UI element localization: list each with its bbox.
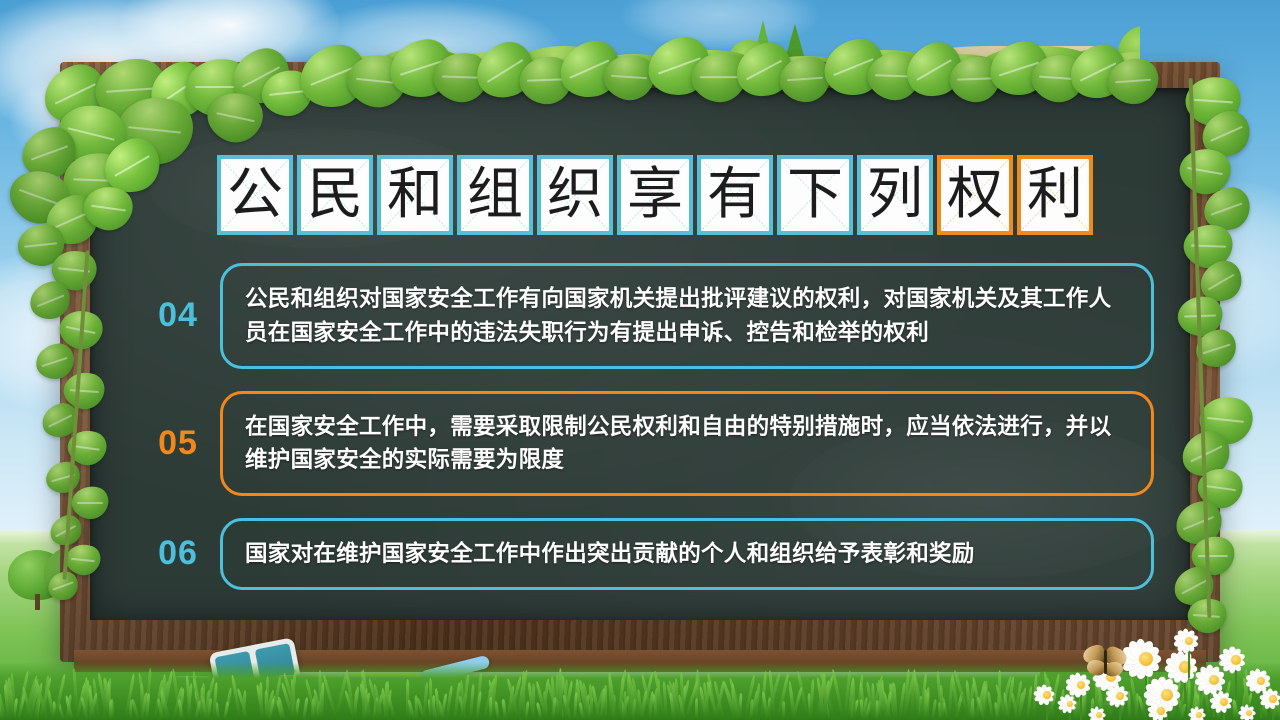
grass-blade	[223, 701, 229, 720]
flower-core	[1043, 691, 1050, 698]
provision-number: 05	[136, 424, 220, 463]
grass-blade	[469, 684, 475, 720]
blackboard: 公民和组织享有下列权利 04公民和组织对国家安全工作有向国家机关提出批评建议的权…	[60, 62, 1220, 662]
grass-blade	[522, 671, 525, 720]
title-glyph: 民	[307, 167, 363, 223]
grass-blade	[429, 678, 433, 720]
daisy-flower	[1190, 706, 1208, 720]
provision-item: 04公民和组织对国家安全工作有向国家机关提出批评建议的权利，对国家机关及其工作人…	[136, 263, 1154, 369]
grass-blade	[302, 697, 308, 720]
grass-blade	[445, 685, 453, 720]
daisy-flower	[1262, 688, 1280, 710]
title-glyph: 和	[387, 167, 443, 223]
title-glyph: 列	[867, 167, 923, 223]
grass-blade	[502, 699, 508, 720]
provision-item: 06国家对在维护国家安全工作中作出突出贡献的个人和组织给予表彰和奖励	[136, 518, 1154, 590]
butterfly-body	[1104, 650, 1107, 674]
title-glyph-cell: 利	[1017, 155, 1093, 235]
daisy-flower	[1036, 684, 1058, 706]
title-glyph-cell: 下	[777, 155, 853, 235]
grass-blade	[109, 700, 112, 720]
provision-text: 公民和组织对国家安全工作有向国家机关提出批评建议的权利，对国家机关及其工作人员在…	[245, 282, 1129, 350]
grass-blade	[987, 691, 994, 720]
provision-box[interactable]: 国家对在维护国家安全工作中作出突出贡献的个人和组织给予表彰和奖励	[220, 518, 1154, 590]
title-glyph: 下	[787, 167, 843, 223]
title-glyph-cell: 列	[857, 155, 933, 235]
title-glyph-cell: 权	[937, 155, 1013, 235]
grass-blade	[494, 701, 500, 720]
flower-core	[1231, 655, 1241, 665]
grass-blade	[532, 684, 535, 720]
grass-blade	[489, 697, 492, 720]
title-glyph: 利	[1027, 167, 1083, 223]
title-glyph-cell: 和	[377, 155, 453, 235]
title-glyph-cell: 有	[697, 155, 773, 235]
daisy-flower	[1222, 646, 1250, 674]
title-glyph: 有	[707, 167, 763, 223]
grass-blade	[259, 682, 263, 720]
provision-item: 05在国家安全工作中，需要采取限制公民权利和自由的特别措施时，应当依法进行，并以…	[136, 391, 1154, 497]
title-glyph-cell: 织	[537, 155, 613, 235]
blackboard-surface: 公民和组织享有下列权利 04公民和组织对国家安全工作有向国家机关提出批评建议的权…	[90, 88, 1190, 620]
daisy-flower	[1090, 706, 1108, 720]
title-glyph-cell: 组	[457, 155, 533, 235]
grass-blade	[475, 691, 482, 720]
daisy-flower	[1108, 684, 1132, 708]
grass-blade	[322, 674, 338, 720]
daisy-flower	[1212, 690, 1236, 714]
title-glyph-cell: 公	[217, 155, 293, 235]
daisy-flower	[1176, 628, 1202, 654]
title-glyph: 享	[627, 167, 683, 223]
daisy-flower	[1125, 638, 1167, 680]
title-glyph: 织	[547, 167, 603, 223]
title-glyph: 组	[467, 167, 523, 223]
provision-text: 在国家安全工作中，需要采取限制公民权利和自由的特别措施时，应当依法进行，并以维护…	[245, 410, 1129, 478]
grass-blade	[871, 683, 875, 720]
provision-box[interactable]: 在国家安全工作中，需要采取限制公民权利和自由的特别措施时，应当依法进行，并以维护…	[220, 391, 1154, 497]
slide-canvas: 公民和组织享有下列权利 04公民和组织对国家安全工作有向国家机关提出批评建议的权…	[0, 0, 1280, 720]
grass-blade	[573, 692, 578, 720]
title-glyph-cell: 享	[617, 155, 693, 235]
grass-blade	[604, 685, 607, 720]
provision-box[interactable]: 公民和组织对国家安全工作有向国家机关提出批评建议的权利，对国家机关及其工作人员在…	[220, 263, 1154, 369]
provision-text: 国家对在维护国家安全工作中作出突出贡献的个人和组织给予表彰和奖励	[245, 537, 1129, 571]
provision-number: 04	[136, 296, 220, 335]
grass-blade	[931, 699, 937, 720]
title-glyph: 公	[227, 167, 283, 223]
butterfly-icon	[1083, 646, 1127, 680]
daisy-flower	[1060, 694, 1080, 714]
provision-number: 06	[136, 534, 220, 573]
page-title: 公民和组织享有下列权利	[217, 155, 1093, 235]
grass-blade	[809, 679, 815, 720]
title-glyph: 权	[947, 167, 1003, 223]
title-glyph-cell: 民	[297, 155, 373, 235]
grass-blade	[782, 701, 785, 720]
provision-list: 04公民和组织对国家安全工作有向国家机关提出批评建议的权利，对国家机关及其工作人…	[136, 263, 1154, 612]
flower-core	[1269, 695, 1276, 702]
daisy-flower	[1150, 700, 1172, 720]
flower-core	[1157, 707, 1164, 714]
grass-blade	[695, 698, 698, 720]
daisy-flower	[1240, 704, 1258, 720]
